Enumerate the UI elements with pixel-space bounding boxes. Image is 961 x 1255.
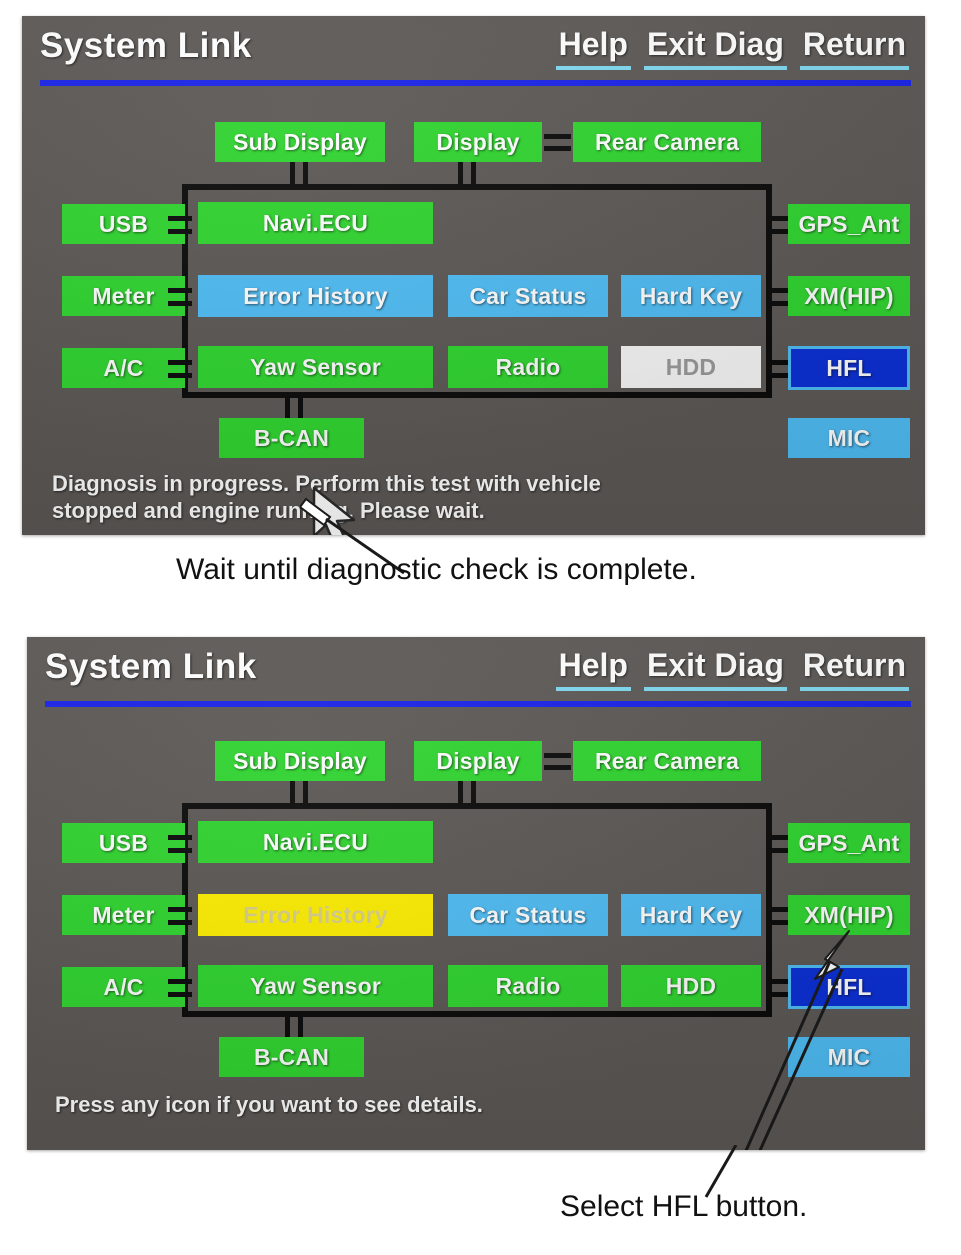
link-display-rear-camera-2b bbox=[544, 765, 571, 770]
panel-2-header: System Link Help Exit Diag Return bbox=[27, 637, 925, 709]
node-hard-key-2[interactable]: Hard Key bbox=[621, 894, 761, 936]
system-link-screen-diagnosis: System Link Help Exit Diag Return Sub Di… bbox=[22, 16, 925, 535]
node-navi-ecu[interactable]: Navi.ECU bbox=[198, 202, 433, 244]
node-sub-display[interactable]: Sub Display bbox=[215, 122, 385, 162]
link-usb-b bbox=[168, 229, 192, 234]
node-yaw-sensor[interactable]: Yaw Sensor bbox=[198, 346, 433, 388]
link-display-down-b bbox=[471, 162, 476, 186]
link-display-rear-camera-b bbox=[544, 146, 571, 151]
link-sub-display-down-2a bbox=[290, 781, 295, 805]
link-xm-hip-a bbox=[766, 288, 790, 293]
node-ac-2[interactable]: A/C bbox=[62, 967, 185, 1007]
link-gps-ant-b bbox=[766, 229, 790, 234]
node-car-status-2[interactable]: Car Status bbox=[448, 894, 608, 936]
link-gps-ant-2b bbox=[766, 848, 790, 853]
link-hfl-2b bbox=[766, 992, 790, 997]
node-hdd-2[interactable]: HDD bbox=[621, 965, 761, 1007]
menu-item-exit-diag-2[interactable]: Exit Diag bbox=[644, 649, 787, 691]
status-message-line-1: Diagnosis in progress. Perform this test… bbox=[52, 470, 601, 497]
link-gps-ant-2a bbox=[766, 835, 790, 840]
header-menu-2: Help Exit Diag Return bbox=[556, 649, 909, 691]
node-meter[interactable]: Meter bbox=[62, 276, 185, 316]
node-error-history[interactable]: Error History bbox=[198, 275, 433, 317]
system-link-screen-complete: System Link Help Exit Diag Return Sub Di… bbox=[27, 637, 925, 1150]
node-ac[interactable]: A/C bbox=[62, 348, 185, 388]
node-xm-hip[interactable]: XM(HIP) bbox=[788, 276, 910, 316]
node-xm-hip-2[interactable]: XM(HIP) bbox=[788, 895, 910, 935]
node-hard-key[interactable]: Hard Key bbox=[621, 275, 761, 317]
node-b-can[interactable]: B-CAN bbox=[219, 418, 364, 458]
link-usb-2a bbox=[168, 835, 192, 840]
link-bcan-b bbox=[298, 398, 303, 418]
link-ac-2a bbox=[168, 979, 192, 984]
status-message: Diagnosis in progress. Perform this test… bbox=[52, 470, 601, 524]
node-radio[interactable]: Radio bbox=[448, 346, 608, 388]
header-divider-2 bbox=[45, 701, 911, 707]
link-xm-hip-2b bbox=[766, 920, 790, 925]
system-link-diagram-2: Sub Display Display Rear Camera USB Mete… bbox=[27, 709, 925, 1150]
node-rear-camera[interactable]: Rear Camera bbox=[573, 122, 761, 162]
node-hfl-2[interactable]: HFL bbox=[788, 965, 910, 1009]
node-gps-ant[interactable]: GPS_Ant bbox=[788, 204, 910, 244]
link-meter-2a bbox=[168, 907, 192, 912]
menu-item-help[interactable]: Help bbox=[556, 28, 631, 70]
node-error-history-2[interactable]: Error History bbox=[198, 894, 433, 936]
link-hfl-2a bbox=[766, 979, 790, 984]
menu-item-help-2[interactable]: Help bbox=[556, 649, 631, 691]
node-yaw-sensor-2[interactable]: Yaw Sensor bbox=[198, 965, 433, 1007]
status-message-2-line-1: Press any icon if you want to see detail… bbox=[55, 1091, 483, 1118]
link-sub-display-down-2b bbox=[303, 781, 308, 805]
link-xm-hip-2a bbox=[766, 907, 790, 912]
callout-label-wait: Wait until diagnostic check is complete. bbox=[176, 553, 697, 587]
link-sub-display-down-b bbox=[303, 162, 308, 186]
link-bcan-a bbox=[285, 398, 290, 418]
node-b-can-2[interactable]: B-CAN bbox=[219, 1037, 364, 1077]
node-gps-ant-2[interactable]: GPS_Ant bbox=[788, 823, 910, 863]
link-usb-a bbox=[168, 216, 192, 221]
link-ac-2b bbox=[168, 992, 192, 997]
link-meter-a bbox=[168, 288, 192, 293]
link-meter-2b bbox=[168, 920, 192, 925]
link-ac-a bbox=[168, 360, 192, 365]
page-title-2: System Link bbox=[45, 647, 257, 687]
link-hfl-b bbox=[766, 373, 790, 378]
status-message-2: Press any icon if you want to see detail… bbox=[55, 1091, 483, 1118]
link-gps-ant-a bbox=[766, 216, 790, 221]
link-ac-b bbox=[168, 373, 192, 378]
node-display[interactable]: Display bbox=[414, 122, 542, 162]
header-menu: Help Exit Diag Return bbox=[556, 28, 909, 70]
node-mic[interactable]: MIC bbox=[788, 418, 910, 458]
page-title: System Link bbox=[40, 26, 252, 66]
link-sub-display-down-a bbox=[290, 162, 295, 186]
link-bcan-2a bbox=[285, 1017, 290, 1037]
menu-item-return-2[interactable]: Return bbox=[800, 649, 909, 691]
node-usb-2[interactable]: USB bbox=[62, 823, 185, 863]
status-message-line-2: stopped and engine running. Please wait. bbox=[52, 497, 601, 524]
node-meter-2[interactable]: Meter bbox=[62, 895, 185, 935]
node-sub-display-2[interactable]: Sub Display bbox=[215, 741, 385, 781]
callout-label-select-hfl: Select HFL button. bbox=[560, 1190, 807, 1224]
link-display-down-2b bbox=[471, 781, 476, 805]
node-hfl[interactable]: HFL bbox=[788, 346, 910, 390]
node-hdd[interactable]: HDD bbox=[621, 346, 761, 388]
system-link-diagram: Sub Display Display Rear Camera USB Mete… bbox=[22, 88, 925, 535]
link-xm-hip-b bbox=[766, 301, 790, 306]
node-navi-ecu-2[interactable]: Navi.ECU bbox=[198, 821, 433, 863]
node-rear-camera-2[interactable]: Rear Camera bbox=[573, 741, 761, 781]
header-divider bbox=[40, 80, 911, 86]
link-display-rear-camera-2a bbox=[544, 753, 571, 758]
link-display-down-a bbox=[458, 162, 463, 186]
link-display-rear-camera-a bbox=[544, 134, 571, 139]
link-usb-2b bbox=[168, 848, 192, 853]
menu-item-return[interactable]: Return bbox=[800, 28, 909, 70]
link-bcan-2b bbox=[298, 1017, 303, 1037]
link-hfl-a bbox=[766, 360, 790, 365]
menu-item-exit-diag[interactable]: Exit Diag bbox=[644, 28, 787, 70]
node-car-status[interactable]: Car Status bbox=[448, 275, 608, 317]
node-radio-2[interactable]: Radio bbox=[448, 965, 608, 1007]
link-meter-b bbox=[168, 301, 192, 306]
node-usb[interactable]: USB bbox=[62, 204, 185, 244]
node-display-2[interactable]: Display bbox=[414, 741, 542, 781]
node-mic-2[interactable]: MIC bbox=[788, 1037, 910, 1077]
panel-1-header: System Link Help Exit Diag Return bbox=[22, 16, 925, 88]
link-display-down-2a bbox=[458, 781, 463, 805]
